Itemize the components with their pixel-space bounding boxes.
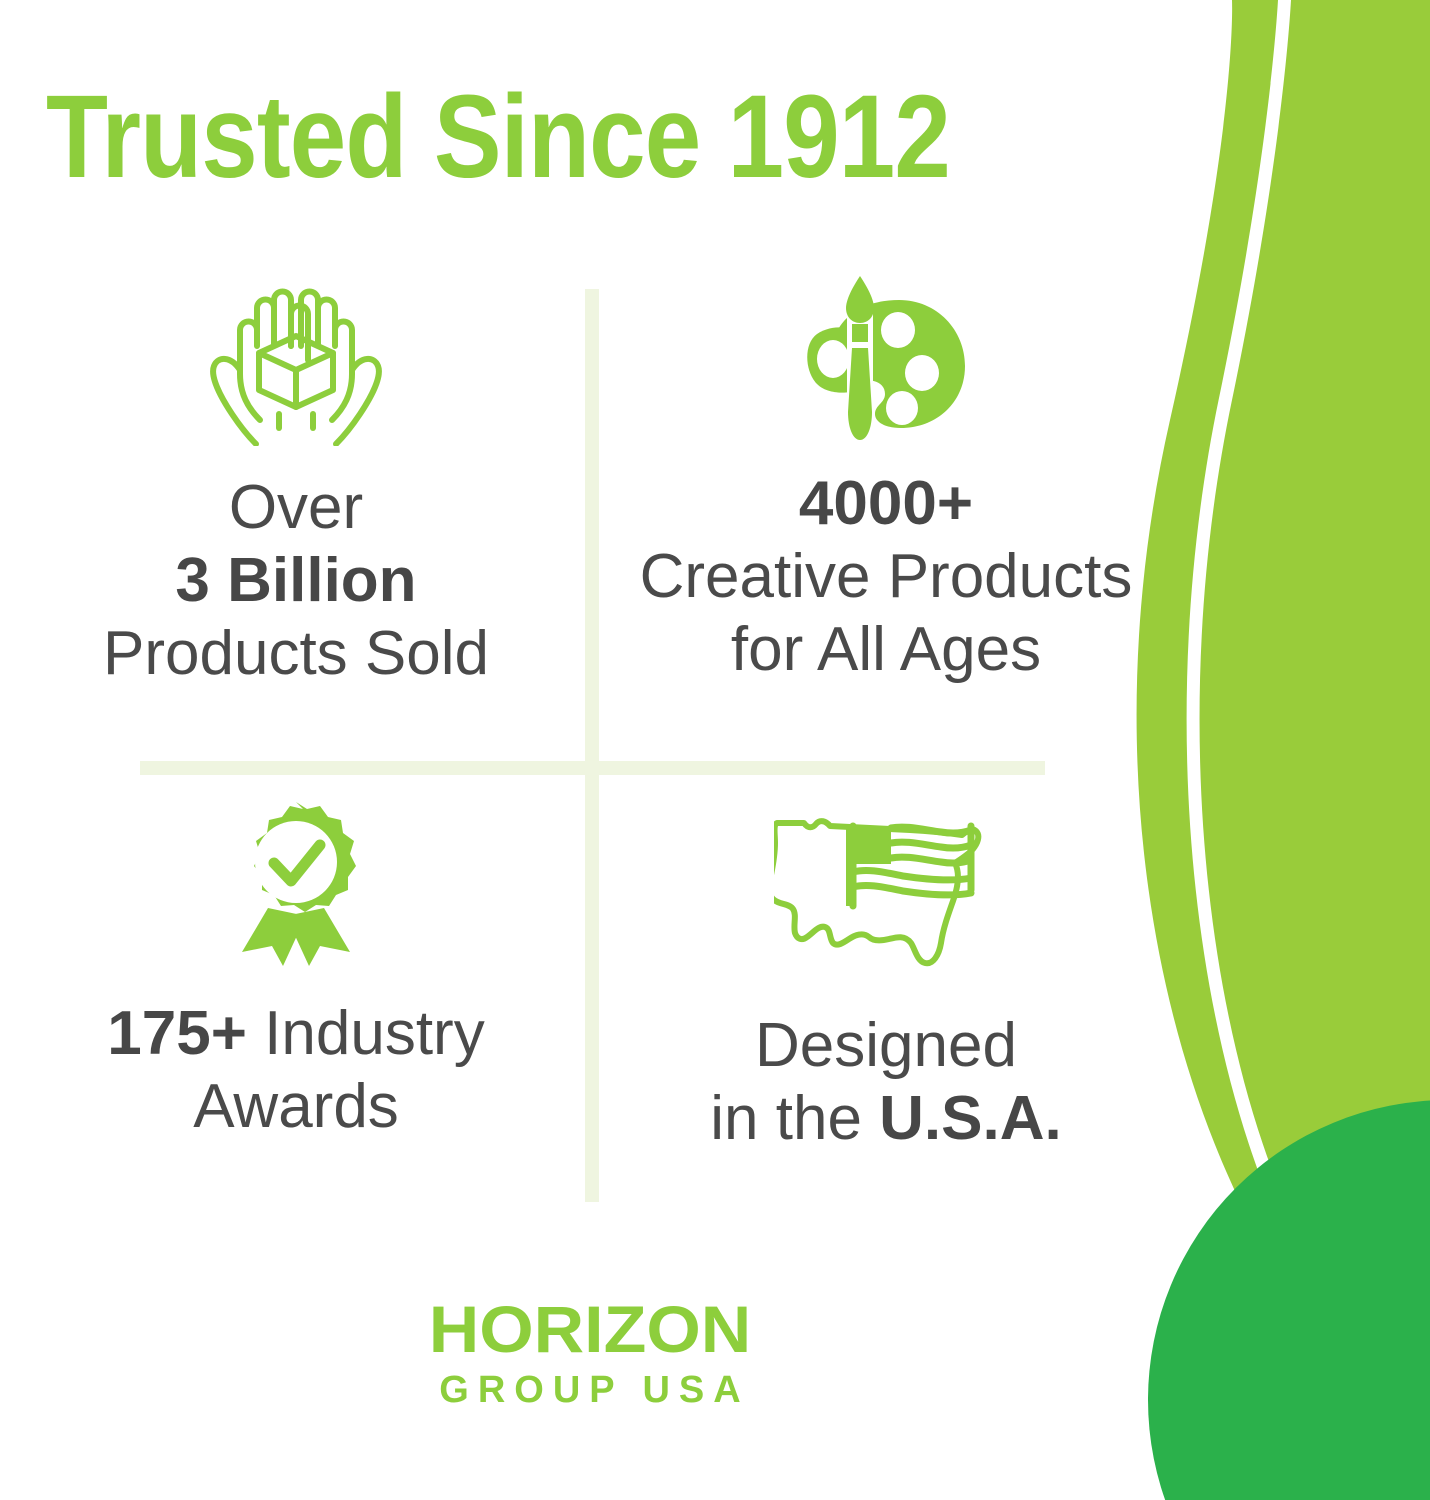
- stat-line-2-prefix: in the: [710, 1084, 879, 1153]
- stat-text-industry-awards: 175+ Industry Awards: [107, 997, 484, 1143]
- hands-holding-box-icon: [201, 274, 391, 451]
- stat-block-industry-awards: 175+ Industry Awards: [0, 762, 592, 1228]
- stat-text-creative-products: 4000+ Creative Products for All Ages: [640, 467, 1133, 686]
- usa-map-flag-icon: [774, 810, 998, 977]
- stats-grid: Over 3 Billion Products Sold: [0, 268, 1180, 1228]
- horizon-group-usa-logo: HORIZON GROUP USA: [0, 1296, 1180, 1409]
- stat-block-designed-in-usa: Designed in the U.S.A.: [592, 762, 1180, 1228]
- stat-line-1: 4000+: [799, 469, 973, 538]
- stat-line-3: Products Sold: [103, 619, 489, 688]
- stat-block-creative-products: 4000+ Creative Products for All Ages: [592, 268, 1180, 762]
- stat-line-1-bold: 175+: [107, 999, 247, 1068]
- logo-tagline: GROUP USA: [0, 1371, 1180, 1409]
- swoosh-white-stripe: [1187, 0, 1385, 1500]
- stat-block-products-sold: Over 3 Billion Products Sold: [0, 268, 592, 762]
- stat-line-1: Designed: [755, 1011, 1017, 1080]
- logo-wordmark: HORIZON: [0, 1296, 1215, 1362]
- stat-line-3: for All Ages: [731, 615, 1041, 684]
- stat-line-1: Over: [229, 473, 363, 542]
- infographic-canvas: Trusted Since 1912: [0, 0, 1430, 1500]
- page-title: Trusted Since 1912: [46, 78, 950, 196]
- stat-text-products-sold: Over 3 Billion Products Sold: [103, 471, 489, 690]
- swoosh-outer-shape: [1137, 0, 1430, 1500]
- stat-line-2: Creative Products: [640, 542, 1133, 611]
- stat-line-2-bold: U.S.A.: [879, 1084, 1062, 1153]
- stat-line-2: Awards: [193, 1072, 399, 1141]
- stat-text-designed-in-usa: Designed in the U.S.A.: [710, 1009, 1062, 1155]
- stat-line-2: 3 Billion: [175, 546, 416, 615]
- award-ribbon-check-icon: [220, 800, 372, 971]
- paint-palette-brush-icon: [795, 272, 977, 449]
- stat-line-1-rest: Industry: [247, 999, 485, 1068]
